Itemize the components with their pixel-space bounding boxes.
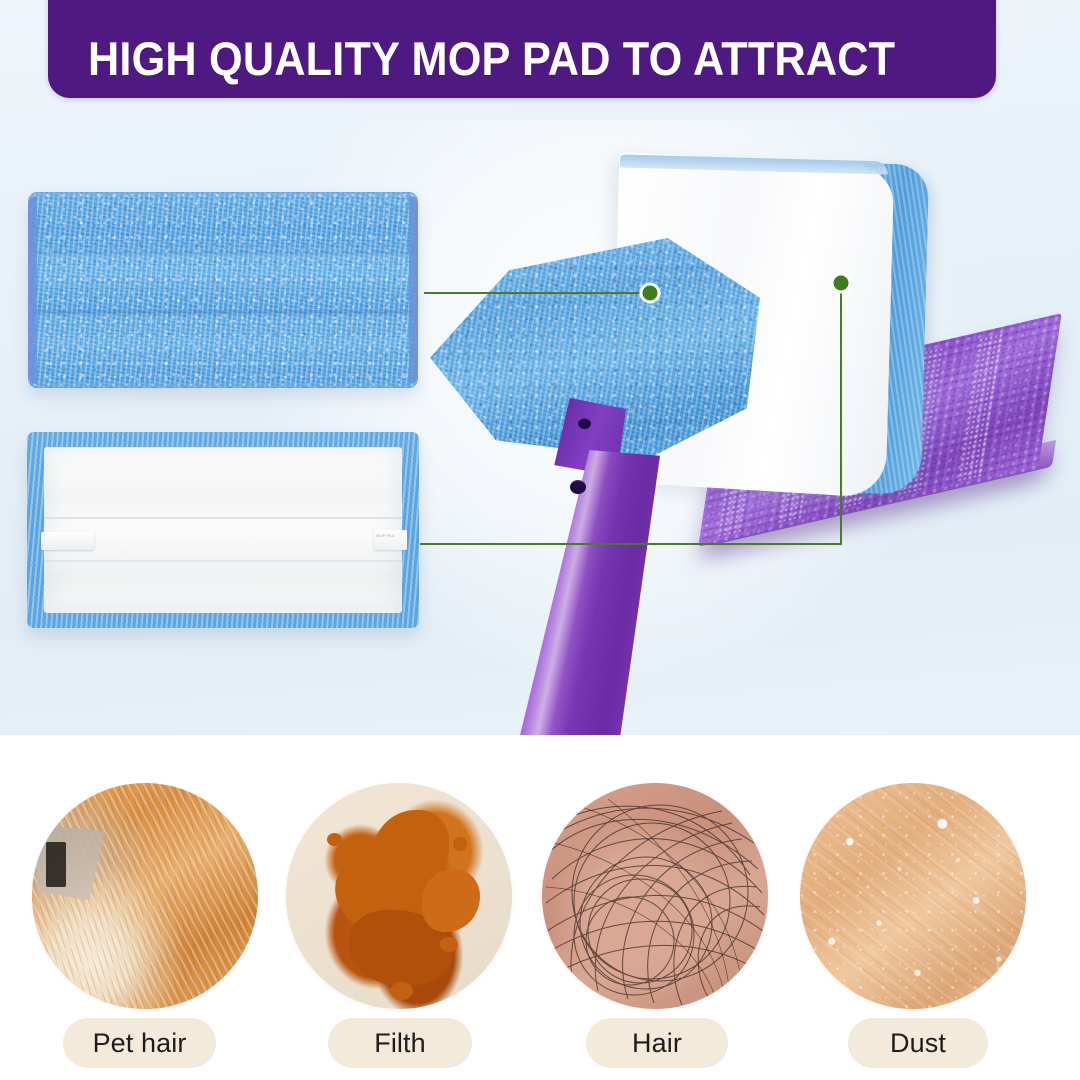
mop-plate-strip (957, 332, 1005, 481)
pad-texture (28, 192, 418, 388)
mop-head-assembly (430, 150, 1080, 735)
banner-title: HIGH QUALITY MOP PAD TO ATTRACT (88, 35, 895, 82)
product-infographic: MOP PAD (0, 0, 1080, 1080)
stain-droplet (453, 837, 467, 851)
pet-hair-image (32, 783, 258, 1009)
mop-screw (570, 480, 586, 494)
filth-photo (286, 783, 512, 1009)
pet-hair-label: Pet hair (93, 1030, 187, 1057)
mop-pad-white-backing: MOP PAD (27, 432, 419, 628)
dust-photo (800, 783, 1026, 1009)
microfiber-mop-pad-blue (28, 192, 418, 388)
pad-label-tag: MOP PAD (374, 530, 407, 550)
dust-label-pill: Dust (848, 1018, 988, 1068)
pad-edge-left (28, 196, 37, 384)
attracts-card-list: Pet hair (0, 735, 1080, 1080)
stain-droplet (390, 982, 413, 1000)
pad-seam (32, 250, 414, 259)
dust-label: Dust (890, 1030, 946, 1057)
pad-label-tag-text: MOP PAD (374, 530, 407, 539)
stain-droplet (327, 833, 343, 847)
hair-image (542, 783, 768, 1009)
filth-label-pill: Filth (328, 1018, 472, 1068)
filth-label: Filth (374, 1030, 426, 1057)
pad-tab-left (41, 532, 94, 550)
filth-image (286, 783, 512, 1009)
attracts-section: Pet hair (0, 735, 1080, 1080)
header-banner: HIGH QUALITY MOP PAD TO ATTRACT (48, 0, 996, 98)
hair-label: Hair (632, 1030, 682, 1057)
pad-edge-right (409, 196, 418, 384)
hair-photo (542, 783, 768, 1009)
product-photo-panel: MOP PAD (0, 0, 1080, 735)
hair-strand-overlay (542, 783, 768, 1009)
dust-fine-particles (800, 783, 1026, 1009)
pad-seam (32, 310, 414, 319)
pad-white-center (44, 447, 402, 613)
stain-blob (422, 869, 481, 932)
pet-hair-photo (32, 783, 258, 1009)
mop-screw (578, 418, 591, 429)
stain-droplet (440, 937, 458, 953)
pet-hair-label-pill: Pet hair (63, 1018, 216, 1068)
dust-image (800, 783, 1026, 1009)
hair-label-pill: Hair (586, 1018, 728, 1068)
